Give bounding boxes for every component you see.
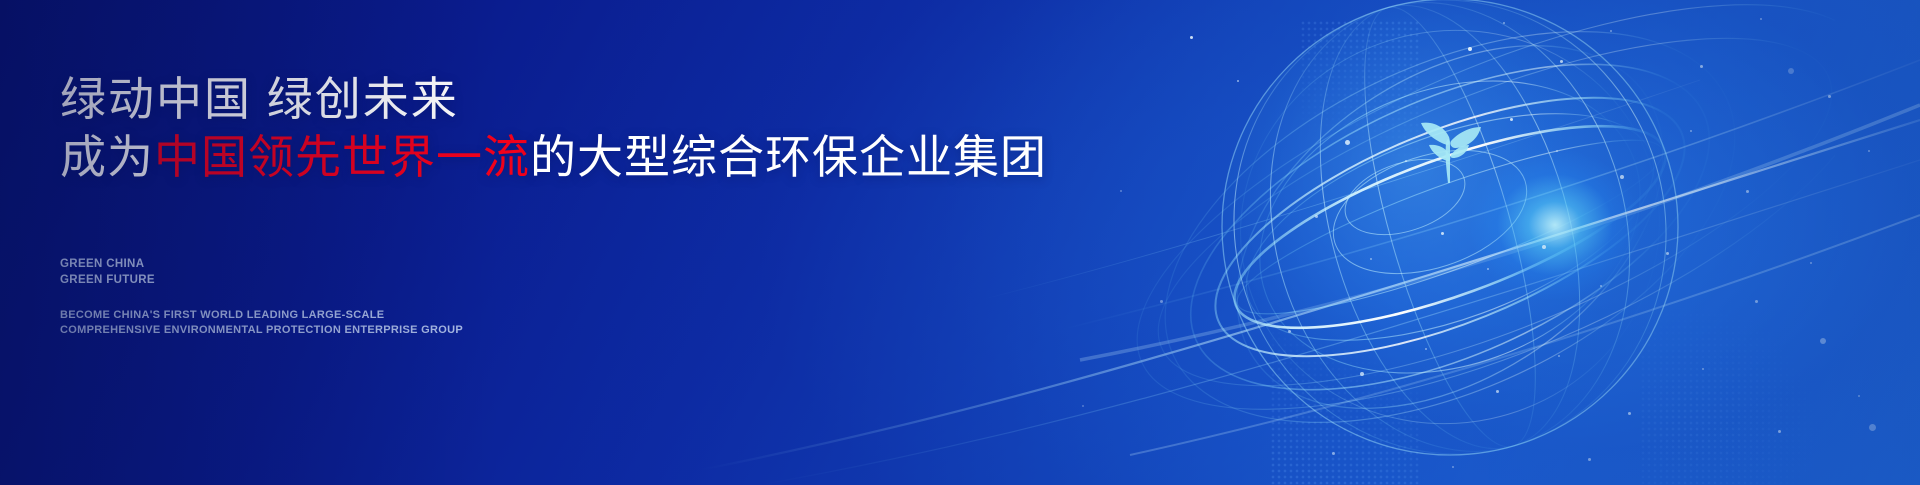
hex-dot-cluster-right <box>1640 300 1820 485</box>
headline-prefix: 成为 <box>60 131 154 183</box>
globe-core-glow <box>1470 150 1640 300</box>
subtitle-en: GREEN CHINA GREEN FUTURE <box>60 257 155 288</box>
headline-block: 绿动中国 绿创未来 成为中国领先世界一流的大型综合环保企业集团 <box>60 72 1060 185</box>
tagline-line-2: COMPREHENSIVE ENVIRONMENTAL PROTECTION E… <box>60 323 463 338</box>
hex-dot-cluster-bottom <box>1270 330 1420 485</box>
headline-highlight: 中国领先世界一流 <box>154 131 530 183</box>
headline-suffix: 的大型综合环保企业集团 <box>530 131 1047 183</box>
headline-line-1: 绿动中国 绿创未来 <box>60 72 1060 126</box>
subtitle-line-2: GREEN FUTURE <box>60 273 155 289</box>
tagline-en: BECOME CHINA'S FIRST WORLD LEADING LARGE… <box>60 308 463 338</box>
headline-line-2: 成为中国领先世界一流的大型综合环保企业集团 <box>60 130 1060 184</box>
hex-dot-cluster-top <box>1300 20 1420 160</box>
subtitle-line-1: GREEN CHINA <box>60 257 155 273</box>
sprout-leaf-icon <box>1405 105 1491 191</box>
wireframe-globe <box>1075 0 1835 485</box>
tagline-line-1: BECOME CHINA'S FIRST WORLD LEADING LARGE… <box>60 308 463 323</box>
hero-banner: 绿动中国 绿创未来 成为中国领先世界一流的大型综合环保企业集团 GREEN CH… <box>0 0 1920 485</box>
